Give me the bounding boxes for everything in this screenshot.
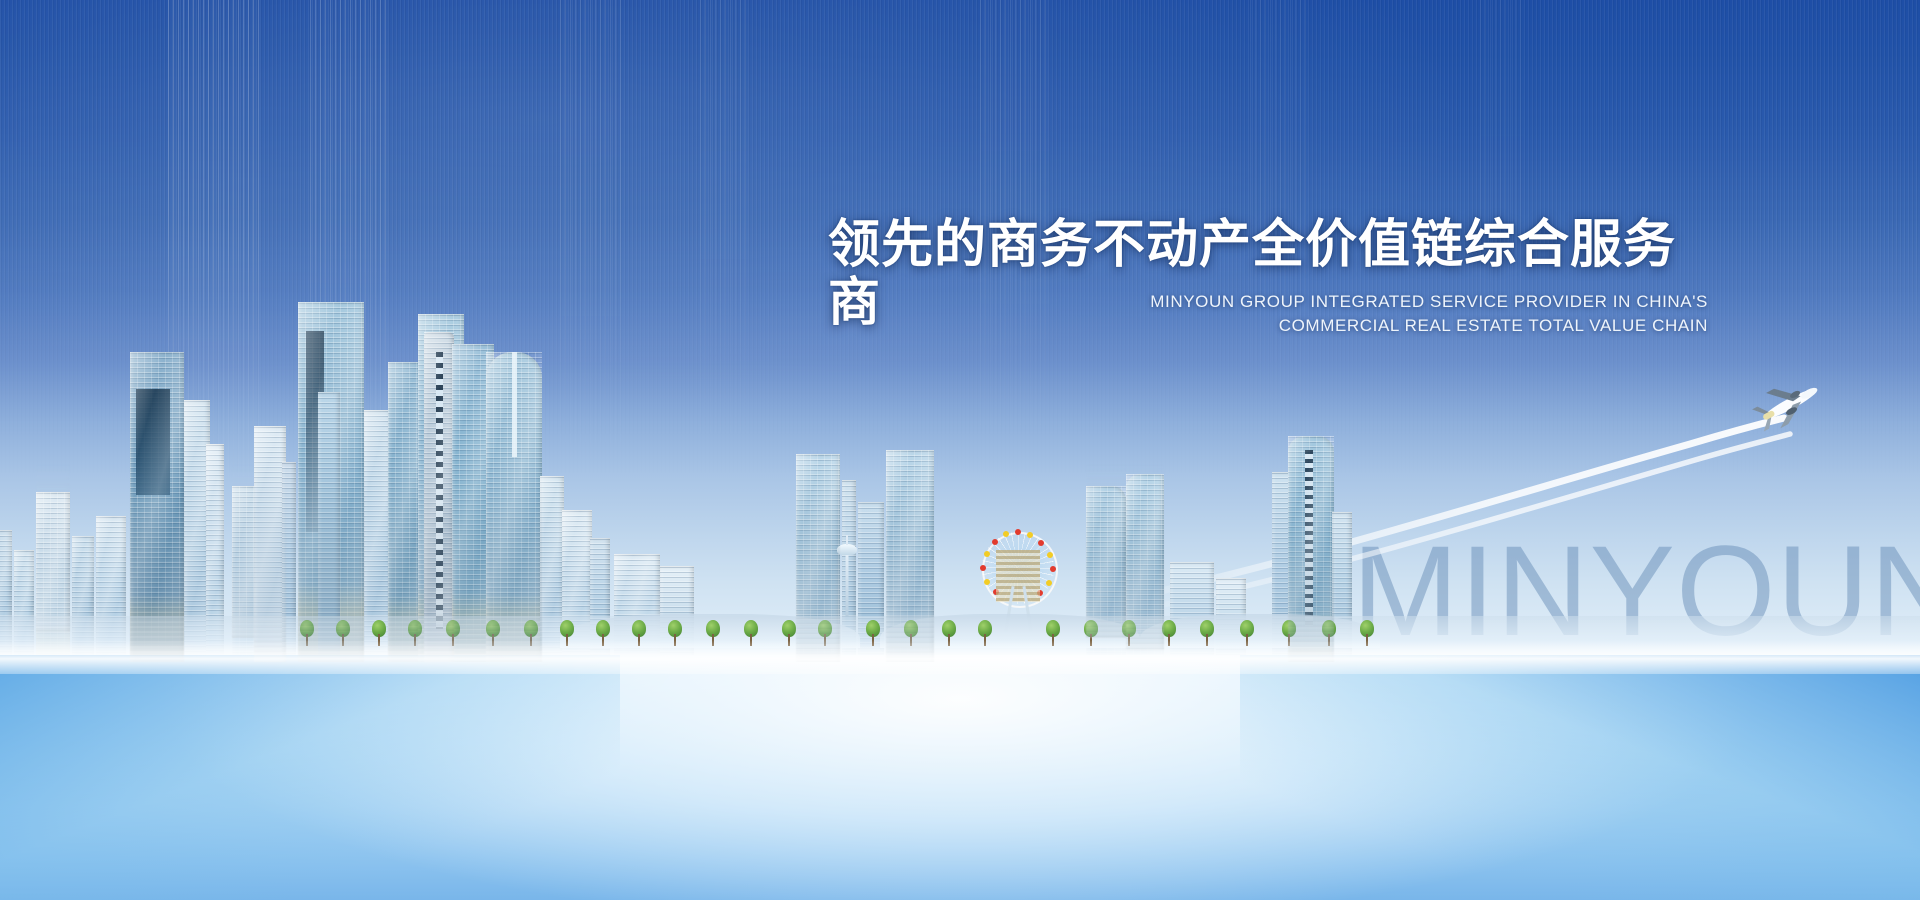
water-corner-shade-right	[1240, 655, 1920, 900]
ferris-wheel	[982, 532, 1054, 604]
page-subtitle-line2: COMMERCIAL REAL ESTATE TOTAL VALUE CHAIN	[848, 314, 1708, 338]
horizon-glow	[0, 640, 1920, 674]
page-subtitle-line1: MINYOUN GROUP INTEGRATED SERVICE PROVIDE…	[848, 290, 1708, 314]
observation-tower	[836, 544, 858, 616]
hero-banner: MINYOUN	[0, 0, 1920, 900]
page-subtitle: MINYOUN GROUP INTEGRATED SERVICE PROVIDE…	[848, 290, 1708, 338]
water-corner-shade-left	[0, 655, 620, 900]
building-slim-tower	[424, 332, 454, 662]
